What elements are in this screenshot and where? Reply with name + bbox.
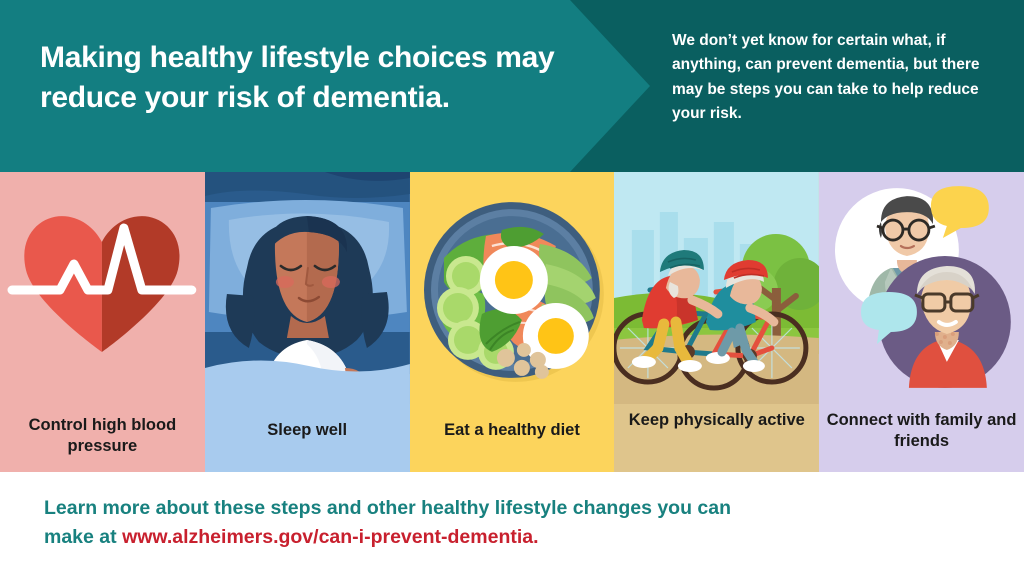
header-subcopy: We don’t yet know for certain what, if a…: [672, 29, 1002, 127]
two-cyclists-illustration: [614, 172, 819, 404]
footer-call-to-action: Learn more about these steps and other h…: [44, 494, 744, 552]
salad-bowl-illustration: [410, 172, 615, 404]
panel-label: Eat a healthy diet: [410, 404, 615, 472]
alzheimers-gov-link[interactable]: www.alzheimers.gov/can-i-prevent-dementi…: [122, 526, 538, 548]
page-title: Making healthy lifestyle choices may red…: [40, 38, 570, 118]
panel-eat-healthy-diet: Eat a healthy diet: [410, 172, 615, 472]
header-banner-section: Making healthy lifestyle choices may red…: [0, 0, 1024, 172]
two-portraits-with-speech-bubbles-illustration: [819, 172, 1024, 404]
panel-label: Sleep well: [205, 404, 410, 472]
sleeping-woman-illustration: [205, 172, 410, 404]
footer-section: Learn more about these steps and other h…: [0, 472, 1024, 576]
panel-control-blood-pressure: Control high blood pressure: [0, 172, 205, 472]
panel-keep-physically-active: Keep physically active: [614, 172, 819, 472]
panel-sleep-well: Sleep well: [205, 172, 410, 472]
panel-label: Control high blood pressure: [0, 404, 205, 472]
heart-with-pulse-line-icon: [0, 172, 205, 404]
infographic-root: Making healthy lifestyle choices may red…: [0, 0, 1024, 576]
panel-label: Connect with family and friends: [819, 404, 1024, 472]
panel-label: Keep physically active: [614, 404, 819, 472]
healthy-steps-panel-row: Control high blood pressure: [0, 172, 1024, 472]
panel-connect-family-friends: Connect with family and friends: [819, 172, 1024, 472]
